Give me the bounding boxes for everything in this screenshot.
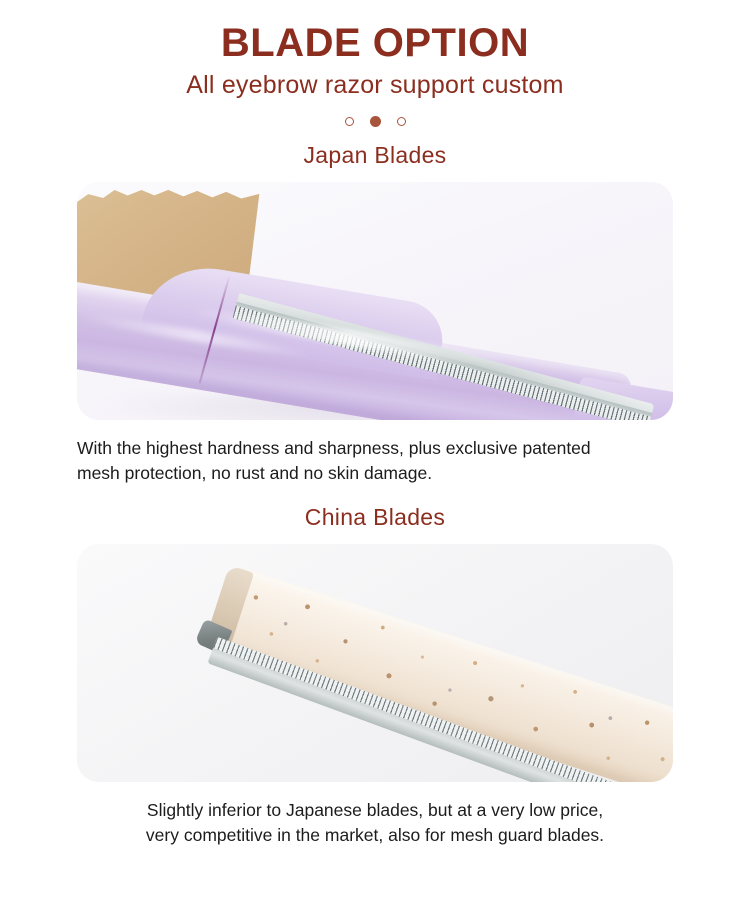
page-header: BLADE OPTION All eyebrow razor support c… [0, 0, 750, 128]
caption-japan: With the highest hardness and sharpness,… [69, 436, 681, 486]
product-detail-page: BLADE OPTION All eyebrow razor support c… [0, 0, 750, 901]
section-title-china: China Blades [0, 504, 750, 531]
caption-japan-line-1: With the highest hardness and sharpness,… [77, 436, 681, 461]
caption-japan-line-2: mesh protection, no rust and no skin dam… [77, 461, 681, 486]
page-title: BLADE OPTION [0, 22, 750, 64]
section-japan-blades: Japan Blades With the highest hardness a… [0, 142, 750, 486]
carousel-dot-3[interactable] [397, 117, 406, 126]
product-image-china-blade [77, 544, 673, 782]
razor-japan [77, 239, 673, 420]
caption-china-line-1: Slightly inferior to Japanese blades, bu… [69, 798, 681, 823]
section-china-blades: China Blades Slightly inferior to Japane… [0, 504, 750, 848]
carousel-dots [0, 114, 750, 128]
product-image-japan-blade [77, 182, 673, 420]
razor-china [184, 564, 673, 782]
carousel-dot-2-active[interactable] [370, 116, 381, 127]
section-title-japan: Japan Blades [0, 142, 750, 169]
page-subtitle: All eyebrow razor support custom [0, 70, 750, 100]
caption-china-line-2: very competitive in the market, also for… [69, 823, 681, 848]
carousel-dot-1[interactable] [345, 117, 354, 126]
caption-china: Slightly inferior to Japanese blades, bu… [69, 798, 681, 848]
